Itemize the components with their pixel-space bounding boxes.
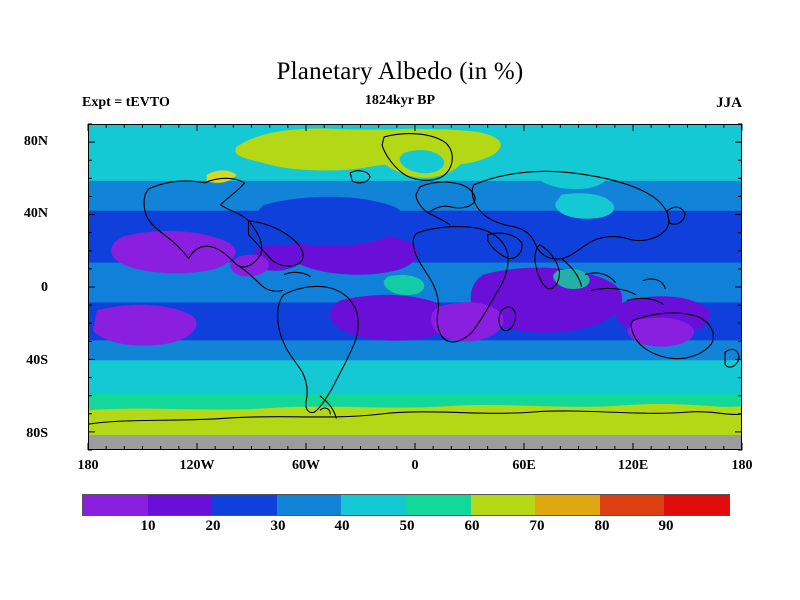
colorbar-label-50: 50 — [387, 518, 427, 535]
colorbar-swatch-4 — [341, 495, 406, 515]
colorbar-swatch-2 — [212, 495, 277, 515]
y-axis-label-80s: 80S — [0, 426, 48, 442]
colorbar-label-40: 40 — [322, 518, 362, 535]
colorbar-label-90: 90 — [646, 518, 686, 535]
colorbar-swatch-5 — [406, 495, 471, 515]
colorbar-label-20: 20 — [193, 518, 233, 535]
albedo-figure: Planetary Albedo (in %) 1824kyr BP Expt … — [0, 0, 800, 600]
colorbar-label-30: 30 — [258, 518, 298, 535]
axis-tick-marks — [80, 116, 752, 462]
colorbar[interactable] — [82, 494, 730, 516]
y-axis-label-80n: 80N — [0, 134, 48, 150]
colorbar-label-10: 10 — [128, 518, 168, 535]
colorbar-swatch-3 — [277, 495, 342, 515]
colorbar-swatch-6 — [471, 495, 536, 515]
colorbar-swatch-7 — [535, 495, 600, 515]
colorbar-swatch-9 — [664, 495, 729, 515]
colorbar-label-60: 60 — [452, 518, 492, 535]
y-axis-label-40n: 40N — [0, 206, 48, 222]
colorbar-label-70: 70 — [517, 518, 557, 535]
colorbar-swatch-1 — [148, 495, 213, 515]
season-label: JJA — [716, 95, 742, 112]
y-axis-label-0: 0 — [0, 280, 48, 296]
experiment-label: Expt = tEVTO — [82, 95, 170, 111]
colorbar-swatch-0 — [83, 495, 148, 515]
y-axis-label-40s: 40S — [0, 353, 48, 369]
colorbar-label-80: 80 — [582, 518, 622, 535]
page-title: Planetary Albedo (in %) — [0, 58, 800, 86]
colorbar-swatch-8 — [600, 495, 665, 515]
